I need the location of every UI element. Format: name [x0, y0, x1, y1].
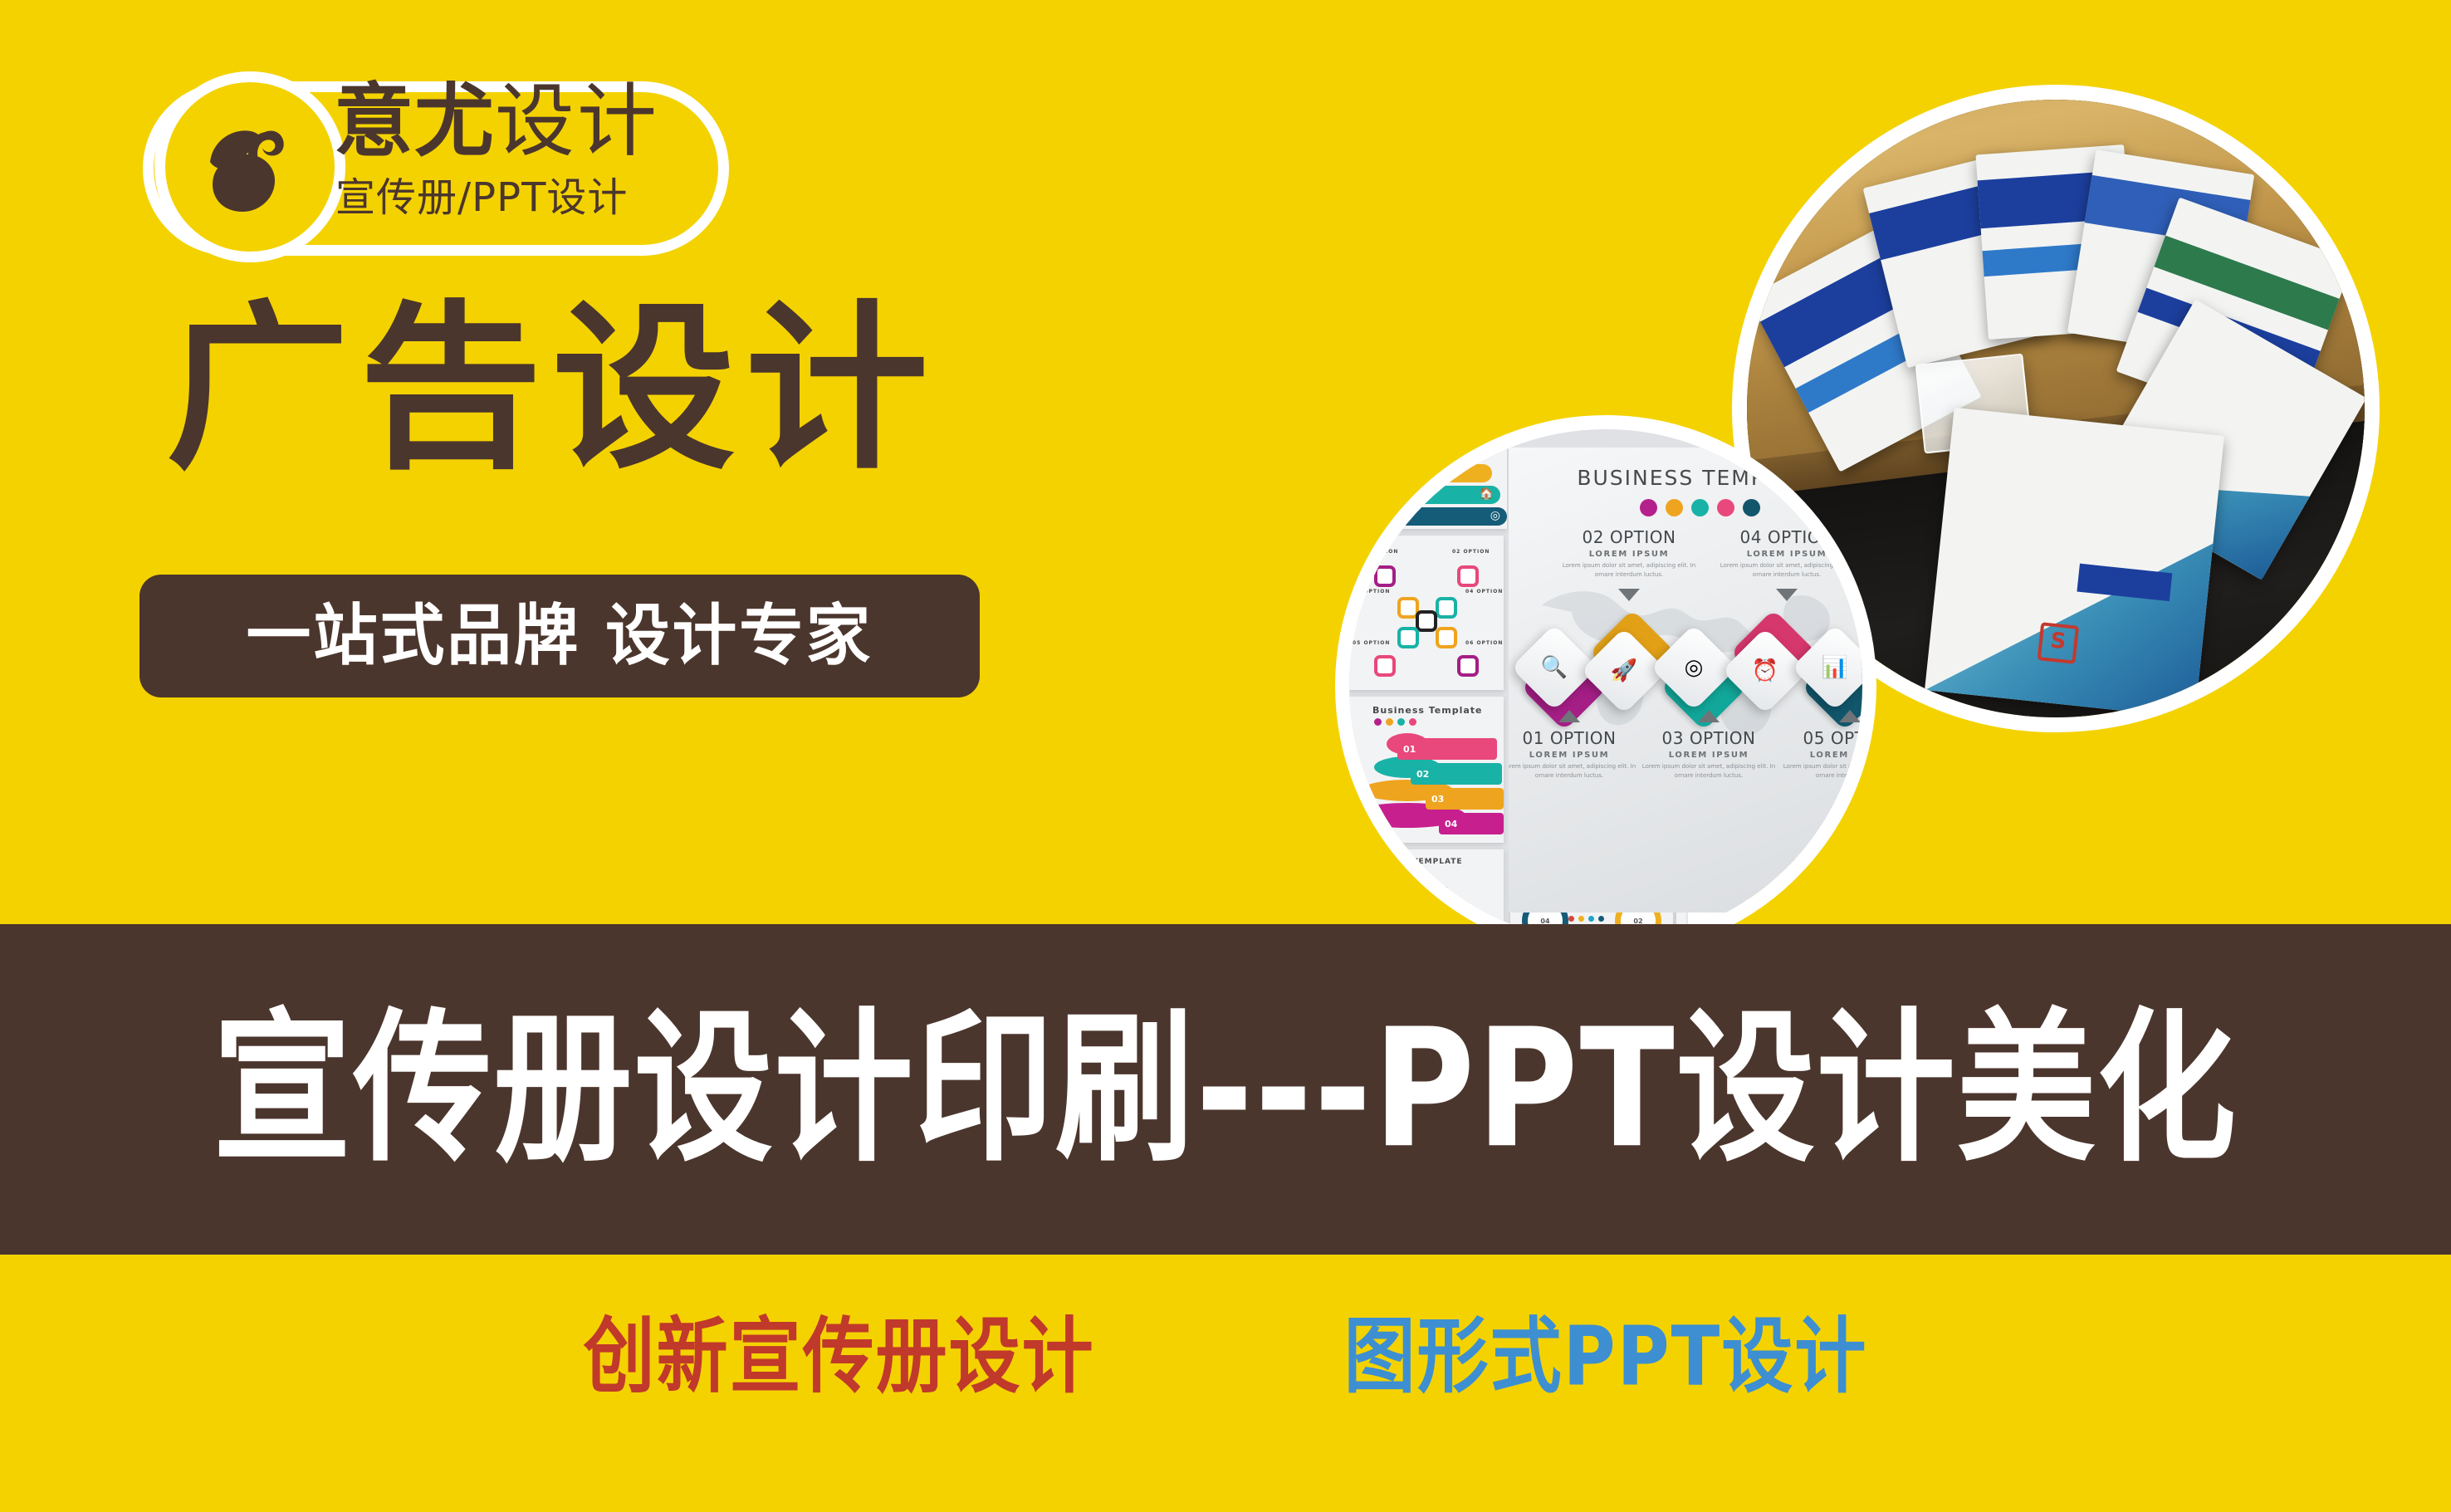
pyramid-row-label: 03 — [1426, 788, 1504, 810]
service-tag-ppt: 图形式PPT设计 — [1344, 1253, 1868, 1398]
collage-content: 🏠 ◎ 01 OPTION — [1349, 429, 1862, 942]
diamond-front-05: 📊 — [1792, 624, 1876, 712]
option-sub: LOREM IPSUM — [1509, 751, 1640, 760]
brand-name: 意尤设计 — [334, 81, 659, 161]
strip-bar: ◎ — [1367, 507, 1507, 526]
option-body: Lorem ipsum dolor sit amet, adipiscing e… — [1779, 762, 1876, 780]
flow-diagram: 01 OPTION 02 OPTION 03 OPTION 04 OPTION … — [1349, 536, 1504, 690]
flow-node — [1397, 627, 1419, 648]
flow-node — [1374, 655, 1396, 677]
diamond-front-03: ◎ — [1651, 624, 1738, 712]
option-body: Lorem ipsum dolor sit amet, adipiscing e… — [1509, 762, 1640, 780]
option-block-03: 03 OPTION LOREM IPSUM Lorem ipsum dolor … — [1638, 728, 1779, 780]
collage-center-panel: BUSINESS TEMPLATE — [1509, 448, 1876, 913]
red-stamp-logo: S — [2037, 622, 2079, 664]
cycle-tile-dots — [1568, 916, 1604, 922]
magnifier-icon: 🔍 — [1524, 637, 1585, 698]
palette-dot — [1717, 499, 1734, 516]
palette-dot — [1743, 499, 1760, 516]
poster-canvas: 意尤设计 宣传册/PPT设计 广告设计 一站式品牌 设计专家 — [0, 0, 2451, 1512]
arrow-down-icon — [1417, 906, 1431, 914]
worldmap-tile-title: Business — [1864, 858, 1876, 869]
flow-node — [1436, 627, 1457, 648]
flow-label: 06 OPTION — [1465, 640, 1503, 646]
ppt-template-collage-circle: 🏠 ◎ 01 OPTION — [1335, 415, 1876, 957]
palette-dot — [1666, 499, 1683, 516]
option-id: 01 OPTION — [1509, 728, 1640, 748]
option-body: Lorem ipsum dolor sit amet, adipiscing e… — [1638, 762, 1779, 780]
flow-node-center — [1416, 610, 1437, 632]
strip-bar: 🏠 — [1367, 486, 1500, 504]
pyramid-tile-title: Business Template — [1372, 705, 1483, 716]
service-tag-row: 创新宣传册设计 图形式PPT设计 — [0, 1262, 2451, 1470]
option-body: Lorem ipsum dolor sit amet, adipiscing e… — [1716, 561, 1857, 579]
arrow-down-icon — [1776, 589, 1798, 601]
center-panel-palette — [1509, 499, 1876, 516]
option-block-01: 01 OPTION LOREM IPSUM Lorem ipsum dolor … — [1509, 728, 1640, 780]
pyramid-row-label: 02 — [1411, 763, 1502, 785]
map-tile-title: BUSINESS TEMPLATE — [1361, 858, 1463, 866]
flow-node — [1457, 655, 1479, 677]
arrow-up-icon — [1839, 710, 1861, 722]
alarm-clock-icon: ⏰ — [1734, 640, 1796, 702]
option-sub: LOREM IPSUM — [1716, 550, 1857, 559]
pyramid-row-label: 01 — [1397, 738, 1497, 760]
option-id: 04 OPTION — [1716, 527, 1857, 547]
map-tile-dots — [1362, 869, 1416, 877]
collage-tile-pyramid: Business Template 01 02 03 04 — [1349, 697, 1504, 843]
option-sub: LOREM IPSUM — [1779, 751, 1876, 760]
option-body: Lorem ipsum dolor sit amet, adipiscing e… — [1558, 561, 1700, 579]
palette-dot — [1691, 499, 1709, 516]
flow-label: 02 OPTION — [1452, 549, 1490, 555]
cover-band — [2077, 564, 2171, 602]
banner-text: 宣传册设计印刷---PPT设计美化 — [213, 1007, 2238, 1171]
collage-tile-strips: 🏠 ◎ — [1367, 415, 1507, 529]
strip-bar — [1367, 464, 1492, 482]
flow-label: 05 OPTION — [1353, 640, 1390, 646]
brand-subtitle: 宣传册/PPT设计 — [335, 178, 628, 218]
pyramid-tile-dots — [1374, 718, 1416, 726]
option-id: 02 OPTION — [1558, 527, 1700, 547]
flow-label: 01 OPTION — [1361, 549, 1398, 555]
brochure-front-cover: S — [1925, 408, 2224, 719]
flow-label: 03 OPTION — [1353, 589, 1390, 595]
pyramid-row-label: 04 — [1439, 813, 1504, 834]
flow-node — [1374, 565, 1396, 587]
headline-banner: 宣传册设计印刷---PPT设计美化 — [0, 924, 2451, 1255]
logo-text-lockup: 意尤设计 宣传册/PPT设计 — [334, 80, 732, 259]
tagline-label: 一站式品牌 设计专家 — [247, 603, 873, 669]
collage-tile-flowchart: 01 OPTION 02 OPTION 03 OPTION 04 OPTION … — [1349, 536, 1504, 690]
presentation-icon: 📊 — [1804, 637, 1866, 698]
flow-node — [1457, 565, 1479, 587]
service-tag-brochure: 创新宣传册设计 — [584, 1253, 1095, 1398]
rocket-icon: 🚀 — [1593, 640, 1655, 702]
brand-logo-mark — [154, 71, 345, 262]
flow-node — [1436, 597, 1457, 619]
map-tile-option: 04 OPTION — [1401, 886, 1449, 893]
option-sub: LOREM IPSUM — [1638, 751, 1779, 760]
center-panel-title: BUSINESS TEMPLATE — [1509, 466, 1876, 490]
strip-bar — [1367, 443, 1480, 461]
option-block-04: 04 OPTION LOREM IPSUM Lorem ipsum dolor … — [1716, 527, 1857, 579]
flow-label: 04 OPTION — [1465, 589, 1503, 595]
arrow-down-icon — [1618, 589, 1640, 601]
palette-dot — [1640, 499, 1657, 516]
option-block-05: 05 OPTION LOREM IPSUM Lorem ipsum dolor … — [1779, 728, 1876, 780]
option-id: 05 OPTION — [1779, 728, 1876, 748]
target-icon: ◎ — [1663, 637, 1725, 698]
bird-leaf-logo-icon — [188, 105, 312, 229]
arrow-up-icon — [1558, 710, 1580, 722]
arrow-up-icon — [1698, 710, 1720, 722]
tagline-pill: 一站式品牌 设计专家 — [139, 575, 980, 697]
option-block-02: 02 OPTION LOREM IPSUM Lorem ipsum dolor … — [1558, 527, 1700, 579]
option-id: 03 OPTION — [1638, 728, 1779, 748]
cover-triangle — [1925, 515, 2214, 718]
page-title: 广告设计 — [166, 296, 938, 484]
option-sub: LOREM IPSUM — [1558, 550, 1700, 559]
